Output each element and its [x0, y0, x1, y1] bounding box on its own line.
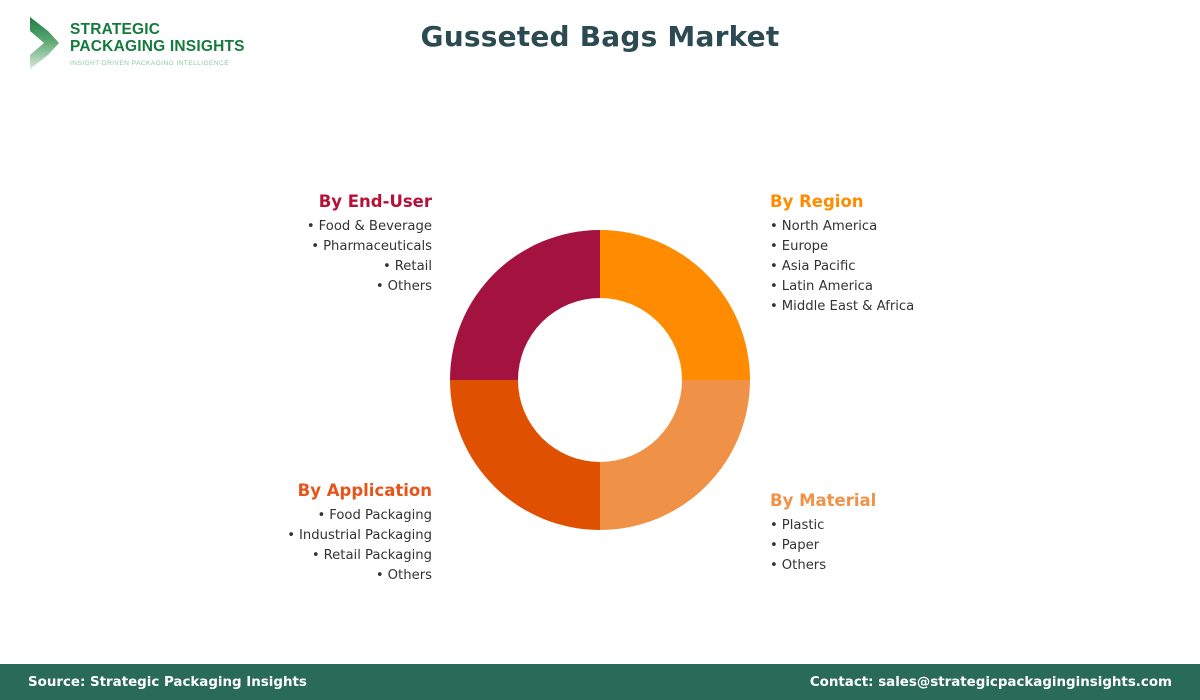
list-item: •Plastic [770, 516, 1070, 536]
bullet-icon: • [770, 257, 778, 277]
list-item-label: Latin America [782, 279, 873, 294]
list-item: •Retail [160, 257, 432, 277]
list-item-label: North America [782, 219, 877, 234]
list-item: •Others [160, 277, 432, 297]
list-item-label: Others [388, 279, 432, 294]
bullet-icon: • [770, 556, 778, 576]
segment-list-material: •Plastic •Paper •Others [770, 516, 1070, 576]
bullet-icon: • [770, 297, 778, 317]
segment-block-region: By Region •North America •Europe •Asia P… [770, 192, 1070, 317]
list-item: •Others [770, 556, 1070, 576]
bullet-icon: • [383, 257, 391, 277]
list-item: •Paper [770, 536, 1070, 556]
infographic-canvas: STRATEGIC PACKAGING INSIGHTS INSIGHT-DRI… [0, 0, 1200, 700]
list-item-label: Retail [395, 259, 432, 274]
bullet-icon: • [376, 566, 384, 586]
list-item: •Retail Packaging [150, 546, 432, 566]
bullet-icon: • [770, 516, 778, 536]
list-item-label: Plastic [782, 518, 825, 533]
segment-list-region: •North America •Europe •Asia Pacific •La… [770, 217, 1070, 317]
segment-heading-application: By Application [150, 481, 432, 500]
list-item-label: Food Packaging [329, 508, 432, 523]
footer-bar: Source: Strategic Packaging Insights Con… [0, 664, 1200, 700]
list-item: •Middle East & Africa [770, 297, 1070, 317]
list-item: •Others [150, 566, 432, 586]
donut-center-hole [518, 298, 682, 462]
segment-block-end-user: By End-User •Food & Beverage •Pharmaceut… [160, 192, 432, 297]
list-item-label: Europe [782, 239, 828, 254]
segment-list-end-user: •Food & Beverage •Pharmaceuticals •Retai… [160, 217, 432, 297]
donut-chart-svg [450, 230, 750, 530]
list-item: •Europe [770, 237, 1070, 257]
list-item-label: Pharmaceuticals [323, 239, 432, 254]
list-item: •North America [770, 217, 1070, 237]
list-item: •Industrial Packaging [150, 526, 432, 546]
logo-tagline: INSIGHT-DRIVEN PACKAGING INTELLIGENCE [70, 60, 245, 67]
donut-chart [450, 230, 750, 530]
page-title: Gusseted Bags Market [0, 20, 1200, 53]
bullet-icon: • [311, 237, 319, 257]
list-item-label: Industrial Packaging [299, 528, 432, 543]
bullet-icon: • [307, 217, 315, 237]
bullet-icon: • [287, 526, 295, 546]
footer-source: Source: Strategic Packaging Insights [28, 675, 307, 690]
list-item: •Food & Beverage [160, 217, 432, 237]
bullet-icon: • [317, 506, 325, 526]
segment-heading-end-user: By End-User [160, 192, 432, 211]
bullet-icon: • [312, 546, 320, 566]
segment-heading-material: By Material [770, 491, 1070, 510]
list-item: •Pharmaceuticals [160, 237, 432, 257]
bullet-icon: • [376, 277, 384, 297]
bullet-icon: • [770, 277, 778, 297]
list-item-label: Food & Beverage [319, 219, 432, 234]
segment-block-application: By Application •Food Packaging •Industri… [150, 481, 432, 586]
segment-list-application: •Food Packaging •Industrial Packaging •R… [150, 506, 432, 586]
segment-block-material: By Material •Plastic •Paper •Others [770, 491, 1070, 576]
bullet-icon: • [770, 536, 778, 556]
list-item-label: Others [388, 568, 432, 583]
list-item: •Food Packaging [150, 506, 432, 526]
footer-contact[interactable]: Contact: sales@strategicpackaginginsight… [810, 675, 1172, 690]
list-item-label: Paper [782, 538, 819, 553]
list-item-label: Middle East & Africa [782, 299, 915, 314]
segment-heading-region: By Region [770, 192, 1070, 211]
list-item: •Latin America [770, 277, 1070, 297]
bullet-icon: • [770, 217, 778, 237]
list-item-label: Retail Packaging [324, 548, 432, 563]
list-item-label: Others [782, 558, 826, 573]
list-item-label: Asia Pacific [782, 259, 856, 274]
bullet-icon: • [770, 237, 778, 257]
list-item: •Asia Pacific [770, 257, 1070, 277]
